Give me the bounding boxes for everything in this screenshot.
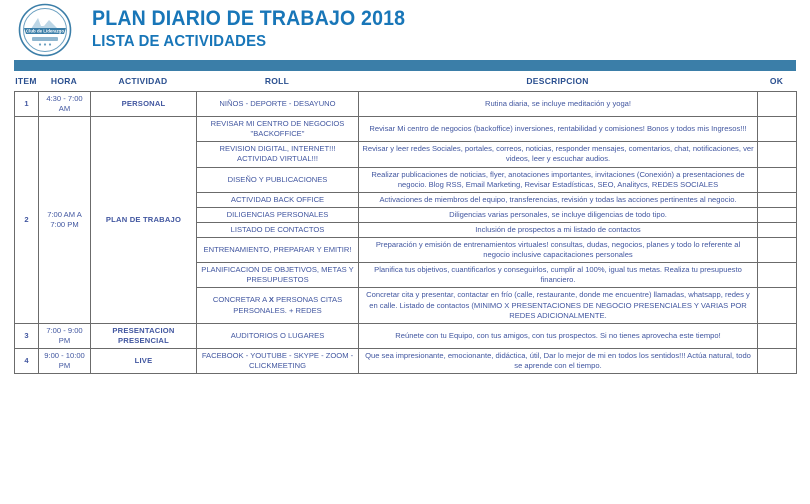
- cell-ok-checkbox[interactable]: [758, 192, 797, 207]
- cell-ok-checkbox[interactable]: [758, 167, 797, 192]
- cell-ok-checkbox[interactable]: [758, 207, 797, 222]
- cell-roll: NIÑOS - DEPORTE - DESAYUNO: [197, 92, 359, 117]
- cell-item: 2: [15, 117, 39, 324]
- column-header-item: ITEM: [14, 76, 38, 86]
- cell-descripcion: Inclusión de prospectos a mi listado de …: [359, 222, 758, 237]
- cell-actividad: PLAN DE TRABAJO: [91, 117, 197, 324]
- cell-descripcion: Concretar cita y presentar, contactar en…: [359, 288, 758, 323]
- cell-descripcion: Activaciones de miembros del equipo, tra…: [359, 192, 758, 207]
- cell-roll: REVISAR MI CENTRO DE NEGOCIOS "BACKOFFIC…: [197, 117, 359, 142]
- cell-descripcion: Reúnete con tu Equipo, con tus amigos, c…: [359, 323, 758, 348]
- header-blue-band: [14, 60, 796, 71]
- cell-roll: ENTRENAMIENTO, PREPARAR Y EMITIR!: [197, 238, 359, 263]
- cell-hora: 9:00 - 10:00 PM: [39, 348, 91, 373]
- cell-roll: FACEBOOK - YOUTUBE - SKYPE - ZOOM - CLIC…: [197, 348, 359, 373]
- cell-ok-checkbox[interactable]: [758, 238, 797, 263]
- cell-actividad: PRESENTACION PRESENCIAL: [91, 323, 197, 348]
- cell-ok-checkbox[interactable]: [758, 288, 797, 323]
- cell-roll: PLANIFICACION DE OBJETIVOS, METAS Y PRES…: [197, 263, 359, 288]
- table-row: 2 7:00 AM A 7:00 PM PLAN DE TRABAJO REVI…: [15, 117, 797, 142]
- cell-ok-checkbox[interactable]: [758, 92, 797, 117]
- cell-roll-pre: CONCRETAR A: [213, 295, 269, 304]
- cell-roll: DISEÑO Y PUBLICACIONES: [197, 167, 359, 192]
- activities-table-body: 1 4:30 - 7:00 AM PERSONAL NIÑOS - DEPORT…: [15, 92, 797, 374]
- cell-descripcion: Preparación y emisión de entrenamientos …: [359, 238, 758, 263]
- cell-descripcion: Diligencias varias personales, se incluy…: [359, 207, 758, 222]
- cell-hora: 7:00 AM A 7:00 PM: [39, 117, 91, 324]
- column-header-ok: OK: [757, 76, 796, 86]
- table-column-headers: ITEM HORA ACTIVIDAD ROLL DESCRIPCION OK: [14, 71, 796, 91]
- column-header-roll: ROLL: [196, 76, 358, 86]
- cell-item: 3: [15, 323, 39, 348]
- column-header-hora: HORA: [38, 76, 90, 86]
- cell-ok-checkbox[interactable]: [758, 323, 797, 348]
- table-row: 1 4:30 - 7:00 AM PERSONAL NIÑOS - DEPORT…: [15, 92, 797, 117]
- cell-ok-checkbox[interactable]: [758, 263, 797, 288]
- header-titles: PLAN DIARIO DE TRABAJO 2018 LISTA DE ACT…: [92, 8, 429, 51]
- cell-roll: DILIGENCIAS PERSONALES: [197, 207, 359, 222]
- cell-ok-checkbox[interactable]: [758, 117, 797, 142]
- cell-roll: CONCRETAR A X PERSONAS CITAS PERSONALES.…: [197, 288, 359, 323]
- cell-ok-checkbox[interactable]: [758, 348, 797, 373]
- cell-hora: 4:30 - 7:00 AM: [39, 92, 91, 117]
- cell-ok-checkbox[interactable]: [758, 222, 797, 237]
- cell-roll: ACTIVIDAD BACK OFFICE: [197, 192, 359, 207]
- document-header: Club de Liderazgo PLAN DIARIO DE TRABAJO…: [0, 0, 810, 60]
- mountain-badge-logo-icon: Club de Liderazgo: [18, 3, 72, 57]
- cell-actividad: PERSONAL: [91, 92, 197, 117]
- cell-item: 4: [15, 348, 39, 373]
- cell-descripcion: Revisar Mi centro de negocios (backoffic…: [359, 117, 758, 142]
- cell-roll: AUDITORIOS O LUGARES: [197, 323, 359, 348]
- column-header-actividad: ACTIVIDAD: [90, 76, 196, 86]
- cell-item: 1: [15, 92, 39, 117]
- table-row: 3 7:00 - 9:00 PM PRESENTACION PRESENCIAL…: [15, 323, 797, 348]
- cell-descripcion: Planifica tus objetivos, cuantificarlos …: [359, 263, 758, 288]
- svg-text:Club de Liderazgo: Club de Liderazgo: [26, 28, 64, 33]
- table-row: 4 9:00 - 10:00 PM LIVE FACEBOOK - YOUTUB…: [15, 348, 797, 373]
- page-subtitle: LISTA DE ACTIVIDADES: [92, 33, 405, 51]
- cell-descripcion: Realizar publicaciones de noticias, flye…: [359, 167, 758, 192]
- cell-actividad: LIVE: [91, 348, 197, 373]
- activities-table: 1 4:30 - 7:00 AM PERSONAL NIÑOS - DEPORT…: [14, 91, 797, 374]
- page-title: PLAN DIARIO DE TRABAJO 2018: [92, 8, 405, 30]
- column-header-descripcion: DESCRIPCION: [358, 76, 757, 86]
- cell-hora: 7:00 - 9:00 PM: [39, 323, 91, 348]
- cell-descripcion: Revisar y leer redes Sociales, portales,…: [359, 142, 758, 167]
- document-page: Club de Liderazgo PLAN DIARIO DE TRABAJO…: [0, 0, 810, 504]
- cell-ok-checkbox[interactable]: [758, 142, 797, 167]
- cell-roll: REVISION DIGITAL, INTERNET!!! ACTIVIDAD …: [197, 142, 359, 167]
- cell-roll: LISTADO DE CONTACTOS: [197, 222, 359, 237]
- cell-descripcion: Rutina diaria, se incluye meditación y y…: [359, 92, 758, 117]
- cell-descripcion: Que sea impresionante, emocionante, didá…: [359, 348, 758, 373]
